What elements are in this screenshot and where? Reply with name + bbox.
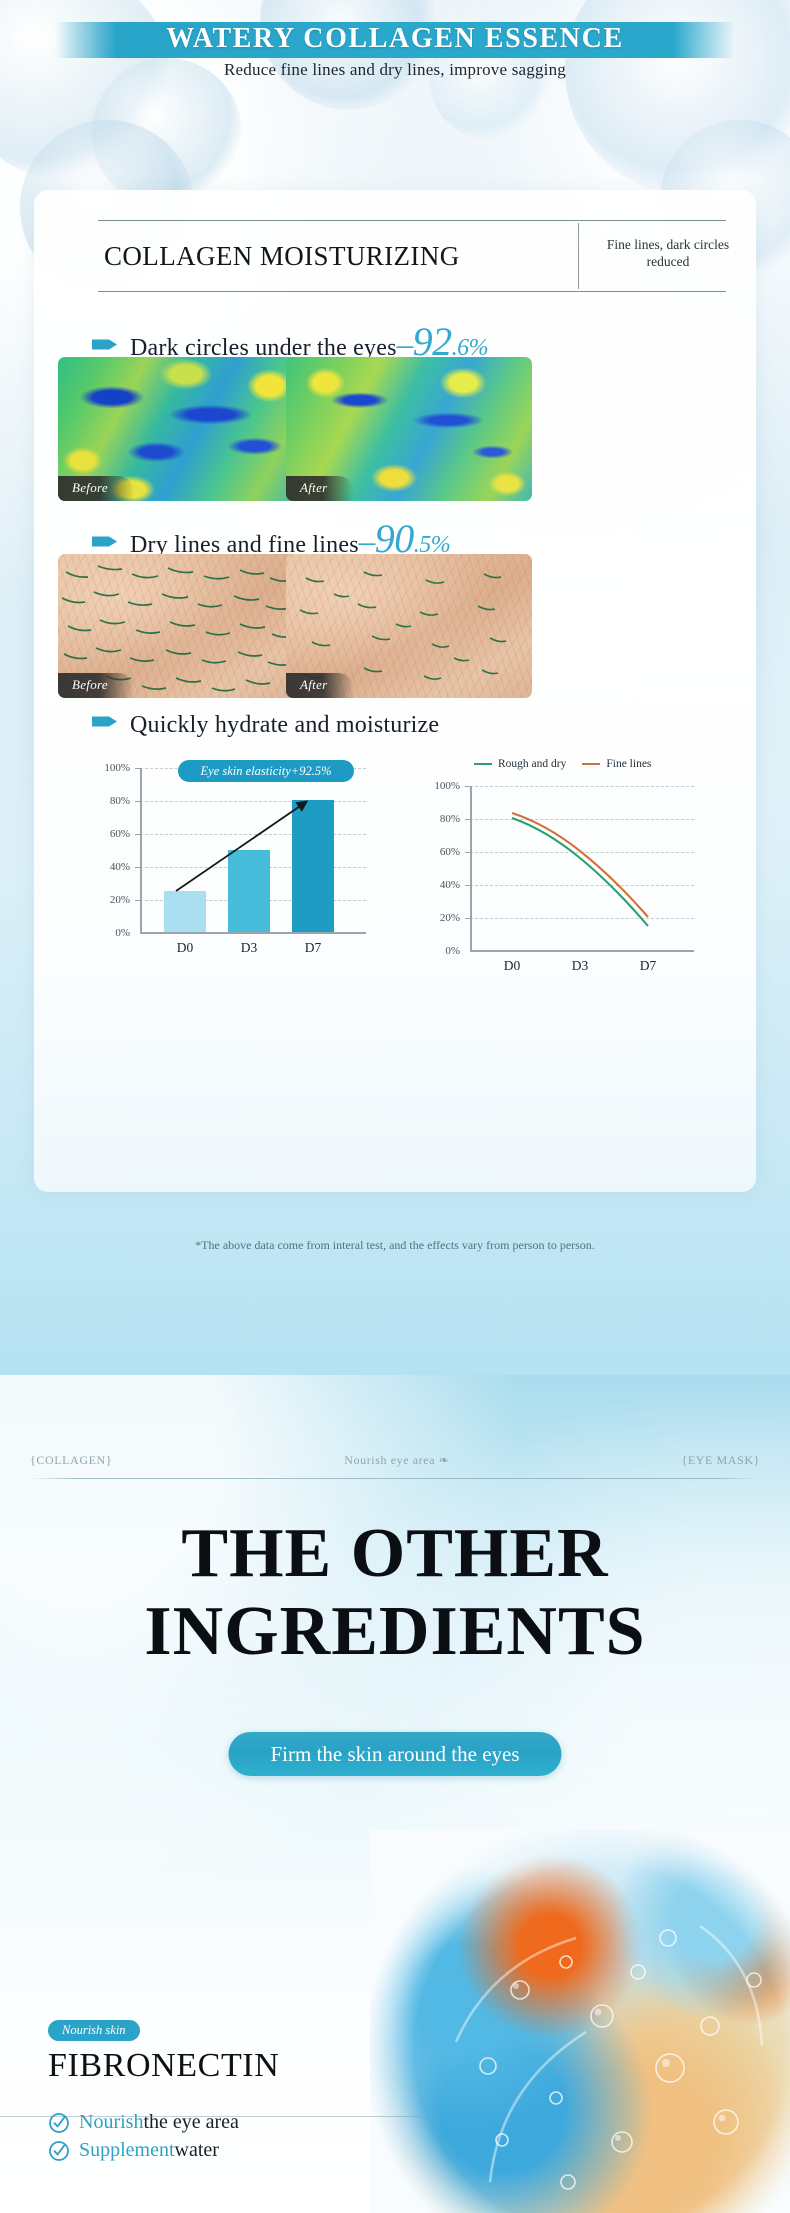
divider bbox=[30, 1478, 760, 1479]
ingredient-block-fibronectin: Nourish skin FIBRONECTIN Nourish the eye… bbox=[48, 2020, 378, 2167]
divider bbox=[98, 291, 726, 292]
x-tick-label: D3 bbox=[220, 940, 278, 956]
chart-annotation-badge: Eye skin elasticity+92.5% bbox=[178, 760, 354, 782]
x-tick-label: D7 bbox=[284, 940, 342, 956]
check-circle-icon bbox=[48, 2140, 70, 2162]
product-detail-page: WATERY COLLAGEN ESSENCE Reduce fine line… bbox=[0, 0, 790, 2213]
results-card: COLLAGEN MOISTURIZING Fine lines, dark c… bbox=[34, 190, 756, 1192]
photo-label-before: Before bbox=[58, 476, 134, 501]
x-tick-label: D3 bbox=[552, 958, 608, 974]
section-title-line1: THE OTHER bbox=[181, 1515, 608, 1592]
meta-center-group: Nourish eye area ❧ bbox=[344, 1453, 449, 1468]
data-disclaimer: *The above data come from interal test, … bbox=[0, 1238, 790, 1253]
card-title: COLLAGEN MOISTURIZING bbox=[104, 234, 460, 278]
x-tick-label: D7 bbox=[620, 958, 676, 974]
photo-label-after: After bbox=[286, 673, 354, 698]
ingredient-bubble-photo bbox=[370, 1830, 790, 2213]
line-chart-skin-condition: Rough and dry Fine lines 100% 80% 60% 40… bbox=[406, 762, 706, 986]
y-tick-label: 0% bbox=[76, 927, 130, 939]
meta-right-label: {EYE MASK} bbox=[681, 1453, 760, 1468]
ingredient-benefit-list: Nourish the eye area Supplement water bbox=[48, 2111, 378, 2162]
cta-pill-button[interactable]: Firm the skin around the eyes bbox=[228, 1732, 561, 1776]
divider bbox=[0, 2116, 420, 2117]
y-tick-label: 60% bbox=[76, 828, 130, 840]
photo-label-before: Before bbox=[58, 673, 134, 698]
list-item: Supplement water bbox=[48, 2139, 378, 2162]
benefit-text: water bbox=[175, 2139, 219, 2162]
card-header: COLLAGEN MOISTURIZING Fine lines, dark c… bbox=[64, 220, 726, 292]
bar-chart-eye-elasticity: 100% 80% 60% 40% 20% 0% bbox=[76, 762, 372, 986]
y-tick-label: 100% bbox=[76, 762, 130, 774]
meta-center-label: Nourish eye area bbox=[344, 1453, 435, 1467]
y-tick-label: 20% bbox=[76, 894, 130, 906]
section-title: THE OTHER INGREDIENTS bbox=[0, 1515, 790, 1671]
benefit-highlight: Nourish bbox=[79, 2111, 143, 2134]
section-label: Quickly hydrate and moisturize bbox=[130, 712, 439, 739]
x-tick-label: D0 bbox=[156, 940, 214, 956]
flag-bullet-icon bbox=[92, 338, 118, 351]
flourish-icon: ❧ bbox=[439, 1453, 450, 1467]
before-photo-dark-circles: Before bbox=[58, 357, 304, 501]
hero-title: WATERY COLLAGEN ESSENCE bbox=[0, 20, 790, 58]
divider bbox=[578, 223, 579, 289]
line-series-group bbox=[406, 762, 706, 986]
section-heading-hydrate: Quickly hydrate and moisturize bbox=[92, 712, 439, 739]
after-photo-dark-circles: After bbox=[286, 357, 532, 501]
flag-bullet-icon bbox=[92, 535, 118, 548]
photo-label-after: After bbox=[286, 476, 354, 501]
before-photo-dry-lines: Before bbox=[58, 554, 304, 698]
trend-arrow-icon bbox=[140, 768, 366, 933]
hero-subtitle: Reduce fine lines and dry lines, improve… bbox=[0, 60, 790, 80]
hero-section: WATERY COLLAGEN ESSENCE Reduce fine line… bbox=[0, 0, 790, 1375]
meta-row: {COLLAGEN} Nourish eye area ❧ {EYE MASK} bbox=[30, 1453, 760, 1468]
series-line-rough-and-dry bbox=[512, 818, 648, 926]
after-photo-dry-lines: After bbox=[286, 554, 532, 698]
y-tick-label: 80% bbox=[76, 795, 130, 807]
meta-left-label: {COLLAGEN} bbox=[30, 1453, 112, 1468]
ingredient-name: FIBRONECTIN bbox=[48, 2047, 378, 2085]
y-tick-label: 40% bbox=[76, 861, 130, 873]
benefit-highlight: Supplement bbox=[79, 2139, 175, 2162]
list-item: Nourish the eye area bbox=[48, 2111, 378, 2134]
benefit-text: the eye area bbox=[143, 2111, 238, 2134]
section-title-line2: INGREDIENTS bbox=[144, 1593, 645, 1670]
bubble-highlights bbox=[370, 1830, 790, 2213]
series-line-fine-lines bbox=[512, 813, 648, 917]
card-header-note: Fine lines, dark circles reduced bbox=[598, 236, 738, 270]
flag-bullet-icon bbox=[92, 715, 118, 728]
bokeh-decor bbox=[92, 58, 242, 208]
divider bbox=[98, 220, 726, 221]
ingredient-tag: Nourish skin bbox=[48, 2020, 140, 2041]
x-tick-label: D0 bbox=[484, 958, 540, 974]
ingredients-section: {COLLAGEN} Nourish eye area ❧ {EYE MASK}… bbox=[0, 1375, 790, 2213]
check-circle-icon bbox=[48, 2112, 70, 2134]
